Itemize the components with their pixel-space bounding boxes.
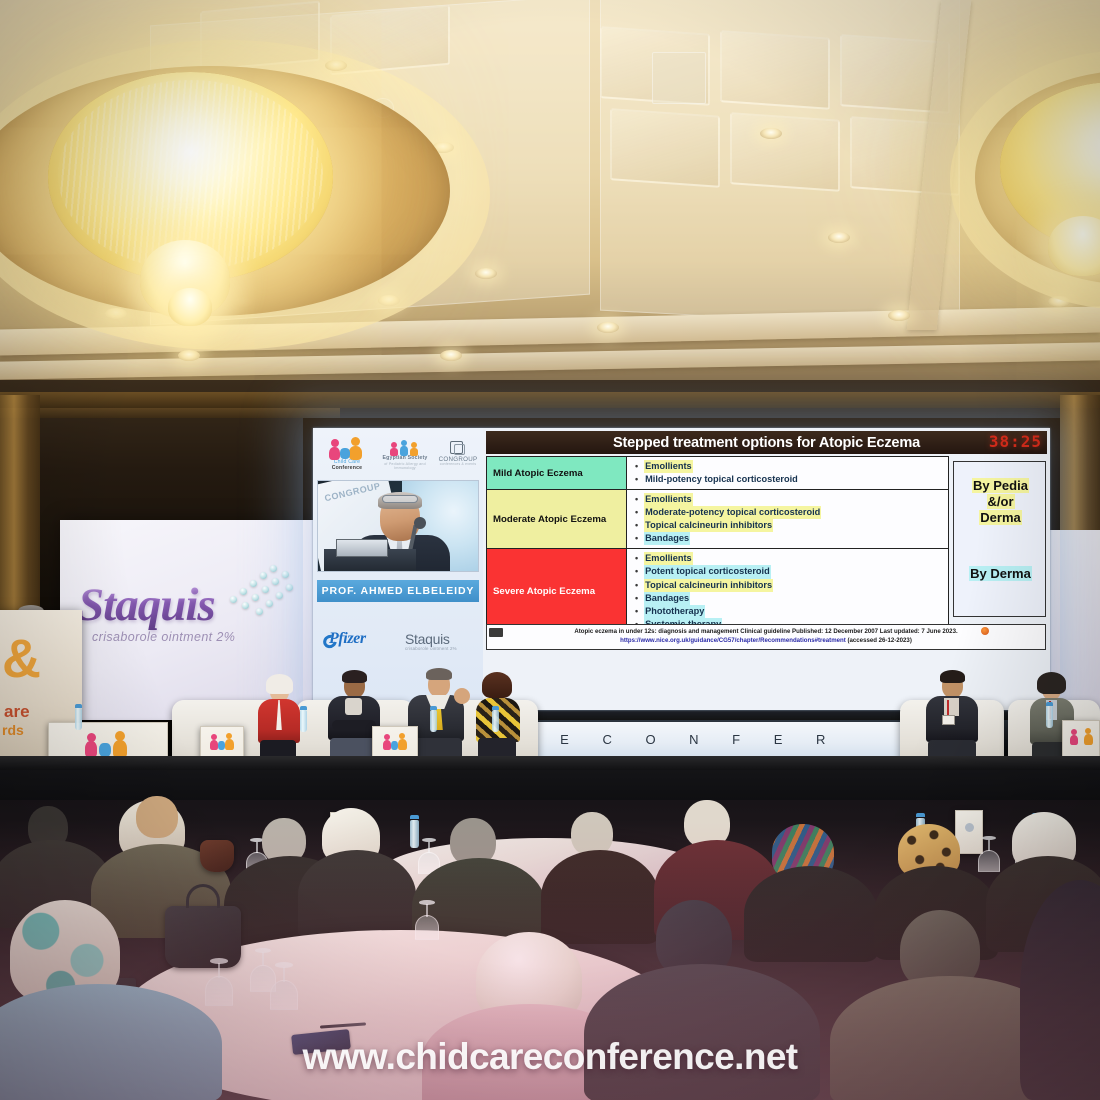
- list-item: •Bandages: [635, 532, 944, 545]
- eyeglasses-icon: [382, 495, 418, 503]
- staquis-logo-sub: crisaborole ointment 2%: [405, 646, 457, 651]
- handbag-small: [200, 840, 234, 872]
- treatment-options-table: Mild Atopic Eczema •Emollients •Mild-pot…: [486, 456, 949, 635]
- severity-cell-mild: Mild Atopic Eczema: [487, 457, 627, 490]
- citation-text: Atopic eczema in under 12s: diagnosis an…: [491, 628, 1041, 637]
- ballroom-ceiling: [0, 0, 1100, 420]
- ceiling-vent: [652, 52, 706, 104]
- list-item: •Emollients: [635, 460, 944, 473]
- speaker-name: PROF. AHMED ELBELEIDY: [322, 585, 475, 597]
- treatment-item: Bandages: [644, 532, 690, 545]
- by-derma-text: By Derma: [969, 566, 1032, 581]
- table-row: Moderate Atopic Eczema •Emollients •Mode…: [487, 490, 949, 549]
- laptop-icon: [336, 539, 388, 557]
- treatment-item: Emollients: [644, 552, 692, 565]
- bullet-icon: •: [635, 579, 638, 592]
- by-derma-label: By Derma: [958, 566, 1043, 581]
- podium-logo-icon: &: [2, 628, 41, 690]
- list-item: •Topical calcineurin inhibitors: [635, 579, 944, 592]
- bullet-icon: •: [635, 565, 638, 578]
- bullet-icon: •: [635, 592, 638, 605]
- water-bottle: [300, 710, 307, 732]
- audience-member: [300, 808, 410, 928]
- slide-title: Stepped treatment options for Atopic Ecz…: [613, 435, 920, 451]
- list-item: •Phototherapy: [635, 605, 944, 618]
- by-pedia-line3: Derma: [979, 510, 1021, 525]
- bullet-icon: •: [635, 605, 638, 618]
- speaker-name-bar: PROF. AHMED ELBELEIDY: [317, 580, 479, 602]
- list-item: •Mild-potency topical corticosteroid: [635, 473, 944, 486]
- treatment-item: Topical calcineurin inhibitors: [644, 519, 773, 532]
- treatment-item: Mild-potency topical corticosteroid: [644, 473, 799, 486]
- list-item: •Topical calcineurin inhibitors: [635, 519, 944, 532]
- bullet-icon: •: [635, 506, 638, 519]
- treatment-item: Moderate-potency topical corticosteroid: [644, 506, 821, 519]
- staquis-brand-subtitle: crisaborole ointment 2%: [92, 630, 307, 644]
- wine-glass: [270, 962, 298, 1010]
- site-watermark: www.chidcareconference.net: [0, 1036, 1100, 1078]
- staquis-logo-small: Staquis: [405, 631, 450, 647]
- table-row: Mild Atopic Eczema •Emollients •Mild-pot…: [487, 457, 949, 490]
- treatment-item: Topical calcineurin inhibitors: [644, 579, 773, 592]
- citation-url: https://www.nice.org.uk/guidance/CG57/ch…: [620, 637, 846, 644]
- sponsor-logo-row: Pfizer Staquis crisaborole ointment 2%: [319, 628, 477, 654]
- logo-line2: conferences & events: [435, 463, 481, 467]
- conference-photo: Staquis crisaborole ointment 2%: [0, 0, 1100, 1100]
- nice-logo-icon: [489, 628, 503, 637]
- severity-cell-severe: Severe Atopic Eczema: [487, 549, 627, 634]
- staquis-dot-cluster-icon: [228, 562, 300, 614]
- water-bottle: [492, 710, 499, 732]
- treatment-list-mild: •Emollients •Mild-potency topical cortic…: [627, 457, 949, 490]
- logo-line2: Conference: [323, 466, 371, 472]
- podium-text-rds: rds: [2, 722, 24, 738]
- slide-citation: Atopic eczema in under 12s: diagnosis an…: [486, 624, 1046, 650]
- by-pedia-line2: &/or: [987, 494, 1015, 509]
- citation-accessed: (accessed 26-12-2023): [847, 637, 911, 644]
- list-item: •Moderate-potency topical corticosteroid: [635, 506, 944, 519]
- treatment-list-severe: •Emollients •Potent topical corticostero…: [627, 549, 949, 634]
- treatment-list-moderate: •Emollients •Moderate-potency topical co…: [627, 490, 949, 549]
- by-pedia-line1: By Pedia: [972, 478, 1029, 493]
- treatment-item: Emollients: [644, 493, 692, 506]
- slide-title-bar: Stepped treatment options for Atopic Ecz…: [486, 431, 1047, 454]
- water-bottle: [430, 710, 437, 732]
- bullet-icon: •: [635, 519, 638, 532]
- by-pedia-label: By Pedia &/or Derma: [958, 478, 1043, 526]
- bullet-icon: •: [635, 532, 638, 545]
- microphone-icon: [414, 517, 426, 529]
- treatment-item: Potent topical corticosteroid: [644, 565, 771, 578]
- congroup-logo: CONGROUP conferences & events: [435, 440, 481, 467]
- presentation-timer: 38:25: [989, 432, 1042, 451]
- bullet-icon: •: [635, 552, 638, 565]
- bullet-icon: •: [635, 493, 638, 506]
- list-item: •Bandages: [635, 592, 944, 605]
- conference-logo-row: Child Care Conference Egyptian Society o…: [319, 436, 477, 478]
- speaker-live-video: CONGROUP: [317, 480, 479, 572]
- list-item: •Emollients: [635, 552, 944, 565]
- water-bottle: [75, 708, 82, 730]
- severity-cell-moderate: Moderate Atopic Eczema: [487, 490, 627, 549]
- audience-member: [120, 796, 200, 866]
- bullet-icon: •: [635, 473, 638, 486]
- egyptian-society-logo: Egyptian Society of Pediatric Allergy an…: [379, 440, 431, 470]
- prescriber-annotation-box: By Pedia &/or Derma By Derma: [953, 461, 1046, 617]
- stage-edge: [0, 756, 1100, 770]
- podium-text-care: are: [4, 702, 30, 722]
- list-item: •Emollients: [635, 493, 944, 506]
- water-bottle: [1046, 706, 1053, 728]
- treatment-item: Phototherapy: [644, 605, 705, 618]
- name-badge: [942, 715, 955, 725]
- treatment-item: Emollients: [644, 460, 692, 473]
- child-care-conference-logo: Child Care Conference: [323, 436, 371, 472]
- bullet-icon: •: [635, 460, 638, 473]
- treatment-item: Bandages: [644, 592, 690, 605]
- nice-accent-icon: [981, 627, 989, 635]
- list-item: •Potent topical corticosteroid: [635, 565, 944, 578]
- table-row: Severe Atopic Eczema •Emollients •Potent…: [487, 549, 949, 634]
- logo-line2: of Pediatric Allergy and Immunology: [379, 462, 431, 470]
